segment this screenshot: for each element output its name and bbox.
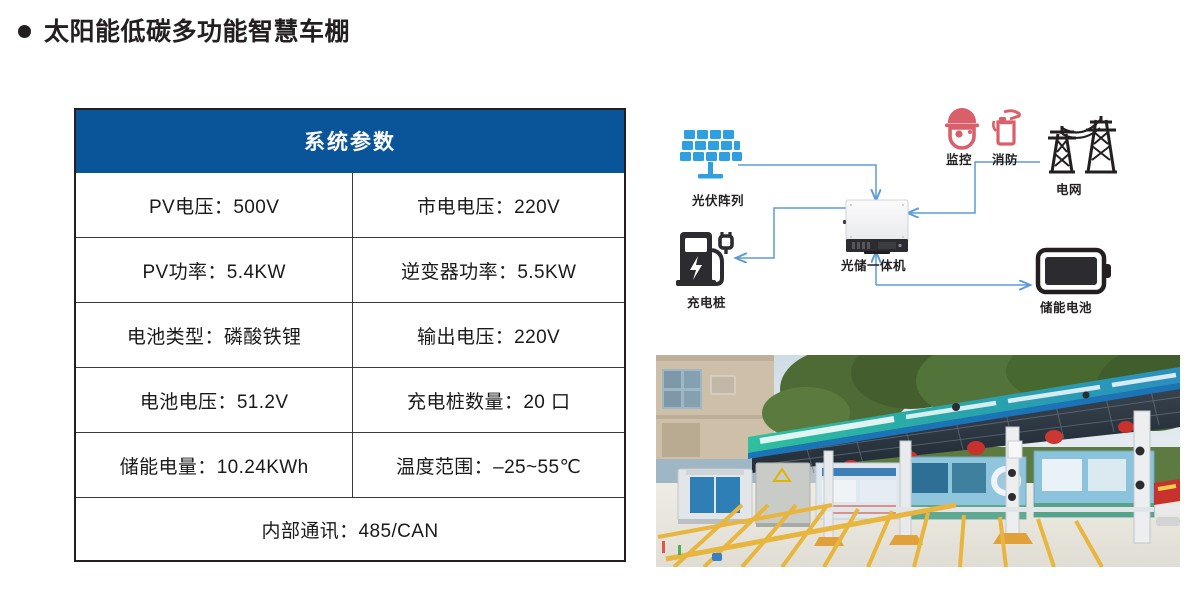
table-row: 内部通讯：485/CAN (75, 498, 625, 562)
bullet-dot-icon (18, 25, 31, 38)
photo-red-banner (1154, 479, 1180, 505)
photo-equipment-cabinets (678, 463, 810, 527)
diagram-label-charging-pile: 充电桩 (687, 292, 726, 311)
table-cell-grid-voltage: 市电电压：220V (353, 173, 625, 238)
table-row: PV电压：500V 市电电压：220V (75, 173, 625, 238)
diagram-label-fire-protection: 消防 (992, 149, 1018, 168)
diagram-label-power-grid: 电网 (1056, 179, 1082, 198)
diagram-label-pv-array: 光伏阵列 (692, 190, 744, 209)
table-row: 电池电压：51.2V 充电桩数量：20 口 (75, 368, 625, 433)
table-cell-pv-power: PV功率：5.4KW (75, 238, 353, 303)
table-cell-inverter-power: 逆变器功率：5.5KW (353, 238, 625, 303)
carport-photo (656, 355, 1180, 567)
page-title-text: 太阳能低碳多功能智慧车棚 (44, 12, 350, 48)
table-cell-output-voltage: 输出电压：220V (353, 303, 625, 368)
charging-pile-icon (676, 232, 732, 286)
power-grid-tower-icon (1048, 116, 1117, 172)
table-cell-battery-type: 电池类型：磷酸铁锂 (75, 303, 353, 368)
table-row: 储能电量：10.24KWh 温度范围：–25~55℃ (75, 433, 625, 498)
table-header-row: 系统参数 (75, 109, 625, 173)
page-title: 太阳能低碳多功能智慧车棚 (18, 12, 350, 48)
diagram-label-hybrid-inverter: 光储一体机 (841, 255, 906, 274)
table-header-cell: 系统参数 (75, 109, 625, 173)
table-cell-pv-voltage: PV电压：500V (75, 173, 353, 238)
security-camera-icon (945, 108, 979, 148)
storage-battery-icon (1038, 250, 1111, 292)
fire-extinguisher-icon (993, 111, 1019, 144)
table-cell-battery-voltage: 电池电压：51.2V (75, 368, 353, 433)
hybrid-inverter-icon (843, 200, 908, 254)
table-cell-internal-communication: 内部通讯：485/CAN (75, 498, 625, 562)
solar-panel-icon (680, 130, 742, 179)
diagram-label-storage-battery: 储能电池 (1040, 297, 1092, 316)
table-cell-storage-capacity: 储能电量：10.24KWh (75, 433, 353, 498)
table-row: PV功率：5.4KW 逆变器功率：5.5KW (75, 238, 625, 303)
system-architecture-diagram: 光伏阵列 监控 消防 电网 光储一体机 充电桩 储能电池 (650, 100, 1190, 340)
table-cell-charger-count: 充电桩数量：20 口 (353, 368, 625, 433)
connector-pv-to-inverter (738, 165, 876, 200)
diagram-label-monitoring: 监控 (946, 149, 972, 168)
connector-grid-to-inverter (908, 162, 1040, 213)
table-cell-temperature-range: 温度范围：–25~55℃ (353, 433, 625, 498)
connector-inverter-to-charger (736, 208, 846, 258)
table-row: 电池类型：磷酸铁锂 输出电压：220V (75, 303, 625, 368)
system-parameters-table: 系统参数 PV电压：500V 市电电压：220V PV功率：5.4KW 逆变器功… (74, 108, 626, 562)
